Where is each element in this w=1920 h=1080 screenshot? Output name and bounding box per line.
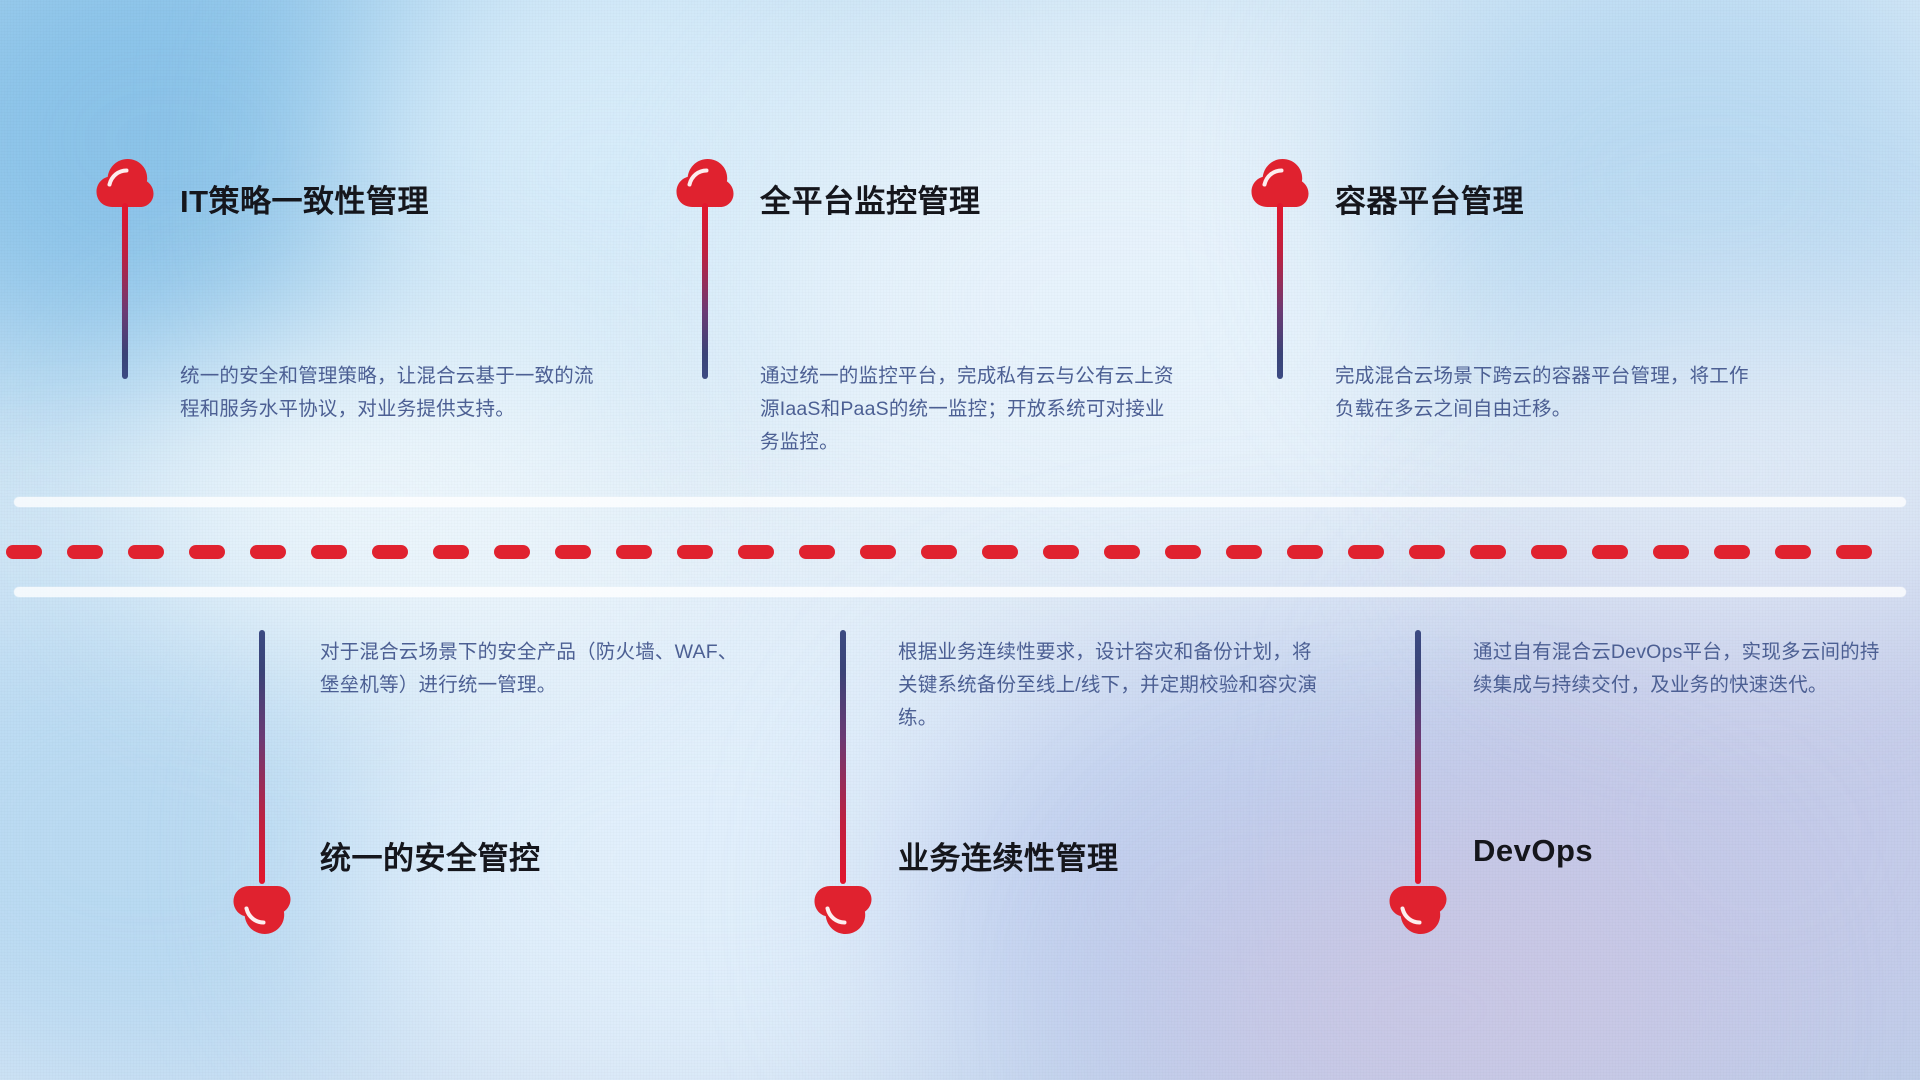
dash-segment [1592, 545, 1628, 559]
dash-segment [189, 545, 225, 559]
divider-bar-top [14, 497, 1906, 507]
dash-segment [67, 545, 103, 559]
dash-segment [1165, 545, 1201, 559]
dash-segment [1653, 545, 1689, 559]
card-description: 统一的安全和管理策略，让混合云基于一致的流程和服务水平协议，对业务提供支持。 [180, 360, 600, 426]
connector-stem [122, 203, 128, 379]
card-title: 统一的安全管控 [320, 833, 541, 878]
dash-segment [982, 545, 1018, 559]
card-title: 业务连续性管理 [898, 833, 1119, 878]
dash-segment [1104, 545, 1140, 559]
dash-segment [799, 545, 835, 559]
cloud-icon [1250, 158, 1310, 208]
cloud-icon [675, 158, 735, 208]
dash-segment [860, 545, 896, 559]
dash-segment [1714, 545, 1750, 559]
cloud-icon [95, 158, 155, 208]
dash-segment [1470, 545, 1506, 559]
dash-segment [6, 545, 42, 559]
dash-segment [555, 545, 591, 559]
dash-segment [494, 545, 530, 559]
connector-stem [1277, 203, 1283, 379]
dash-segment [921, 545, 957, 559]
card-title: IT策略一致性管理 [180, 176, 429, 221]
card-description: 完成混合云场景下跨云的容器平台管理，将工作负载在多云之间自由迁移。 [1335, 360, 1755, 426]
cloud-icon [1388, 885, 1448, 935]
dash-segment [616, 545, 652, 559]
dash-segment [372, 545, 408, 559]
connector-stem [1415, 630, 1421, 884]
dash-segment [1409, 545, 1445, 559]
dash-segment [128, 545, 164, 559]
dash-segment [1775, 545, 1811, 559]
card-title: DevOps [1473, 833, 1593, 869]
card-description: 通过统一的监控平台，完成私有云与公有云上资源IaaS和PaaS的统一监控；开放系… [760, 360, 1180, 459]
cloud-icon [232, 885, 292, 935]
connector-stem [702, 203, 708, 379]
dash-segment [1043, 545, 1079, 559]
connector-stem [840, 630, 846, 884]
card-description: 对于混合云场景下的安全产品（防火墙、WAF、堡垒机等）进行统一管理。 [320, 636, 740, 702]
dash-segment [311, 545, 347, 559]
dash-segment [1287, 545, 1323, 559]
card-description: 根据业务连续性要求，设计容灾和备份计划，将关键系统备份至线上/线下，并定期校验和… [898, 636, 1318, 735]
red-dashed-separator [0, 543, 1920, 561]
dash-segment [1348, 545, 1384, 559]
dash-segment [1836, 545, 1872, 559]
connector-stem [259, 630, 265, 884]
dash-segment [433, 545, 469, 559]
divider-bar-bottom [14, 587, 1906, 597]
dash-segment [1531, 545, 1567, 559]
card-title: 全平台监控管理 [760, 176, 981, 221]
dash-segment [677, 545, 713, 559]
dash-segment [1226, 545, 1262, 559]
dash-segment [250, 545, 286, 559]
card-description: 通过自有混合云DevOps平台，实现多云间的持续集成与持续交付，及业务的快速迭代… [1473, 636, 1893, 702]
card-title: 容器平台管理 [1335, 176, 1524, 221]
cloud-icon [813, 885, 873, 935]
dash-segment [738, 545, 774, 559]
